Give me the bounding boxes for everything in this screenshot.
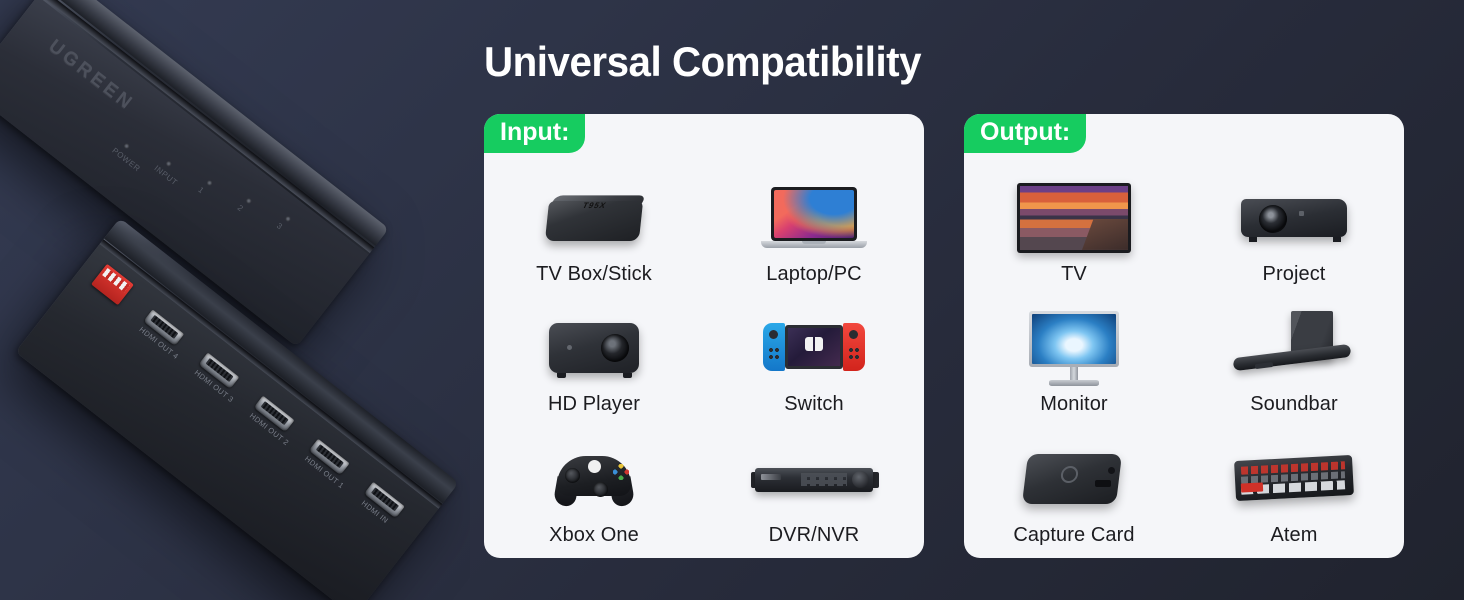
monitor-icon (1009, 307, 1139, 389)
input-item-xbox[interactable]: Xbox One (484, 427, 704, 558)
input-led (165, 160, 172, 167)
television-icon (1009, 177, 1139, 259)
output-item-capture-card[interactable]: Capture Card (964, 427, 1184, 558)
product-photo: UGREEN POWER INPUT 1 2 3 HDMI OUT 4 HDMI… (0, 0, 470, 600)
input-label: INPUT (152, 164, 179, 188)
channel-2-led (245, 197, 252, 204)
input-label-xbox: Xbox One (549, 524, 639, 547)
tv-box-brand-text: T95X (581, 201, 608, 210)
channel-3-label: 3 (275, 221, 285, 231)
output-item-monitor[interactable]: Monitor (964, 297, 1184, 428)
tv-box-icon: T95X (529, 177, 659, 259)
soundbar-icon (1229, 307, 1359, 389)
channel-1-led (206, 179, 213, 186)
input-label-hd-player: HD Player (548, 393, 640, 416)
output-panel: Output: TV Project (964, 114, 1404, 558)
channel-1-label: 1 (196, 185, 206, 195)
input-label-dvr: DVR/NVR (769, 524, 860, 547)
output-badge: Output: (964, 114, 1086, 153)
input-item-dvr[interactable]: DVR/NVR (704, 427, 924, 558)
input-badge: Input: (484, 114, 585, 153)
input-label-switch: Switch (784, 393, 844, 416)
output-label-soundbar: Soundbar (1250, 393, 1338, 416)
compatibility-section: Universal Compatibility Input: T95X TV B… (470, 0, 1464, 600)
input-item-laptop[interactable]: Laptop/PC (704, 166, 924, 297)
output-item-tv[interactable]: TV (964, 166, 1184, 297)
input-device-grid: T95X TV Box/Stick Laptop/PC (484, 166, 924, 558)
xbox-controller-icon (529, 438, 659, 520)
power-led (123, 143, 130, 150)
output-item-projector[interactable]: Project (1184, 166, 1404, 297)
projector-icon (1229, 177, 1359, 259)
panels-container: Input: T95X TV Box/Stick (484, 114, 1404, 558)
output-item-atem[interactable]: Atem (1184, 427, 1404, 558)
input-item-hd-player[interactable]: HD Player (484, 297, 704, 428)
input-label-laptop: Laptop/PC (766, 263, 861, 286)
laptop-icon (749, 177, 879, 259)
dvr-icon (749, 438, 879, 520)
input-item-tv-box[interactable]: T95X TV Box/Stick (484, 166, 704, 297)
output-label-monitor: Monitor (1040, 393, 1107, 416)
hd-player-icon (529, 307, 659, 389)
atem-switcher-icon (1229, 438, 1359, 520)
output-label-atem: Atem (1270, 524, 1317, 547)
output-item-soundbar[interactable]: Soundbar (1184, 297, 1404, 428)
output-label-capture-card: Capture Card (1013, 524, 1134, 547)
output-label-tv: TV (1061, 263, 1087, 286)
capture-card-icon (1009, 438, 1139, 520)
page-title: Universal Compatibility (484, 38, 921, 86)
input-item-switch[interactable]: Switch (704, 297, 924, 428)
output-device-grid: TV Project (964, 166, 1404, 558)
nintendo-switch-icon (749, 307, 879, 389)
input-label-tv-box: TV Box/Stick (536, 263, 652, 286)
input-panel: Input: T95X TV Box/Stick (484, 114, 924, 558)
output-label-projector: Project (1263, 263, 1326, 286)
channel-2-label: 2 (236, 203, 246, 213)
